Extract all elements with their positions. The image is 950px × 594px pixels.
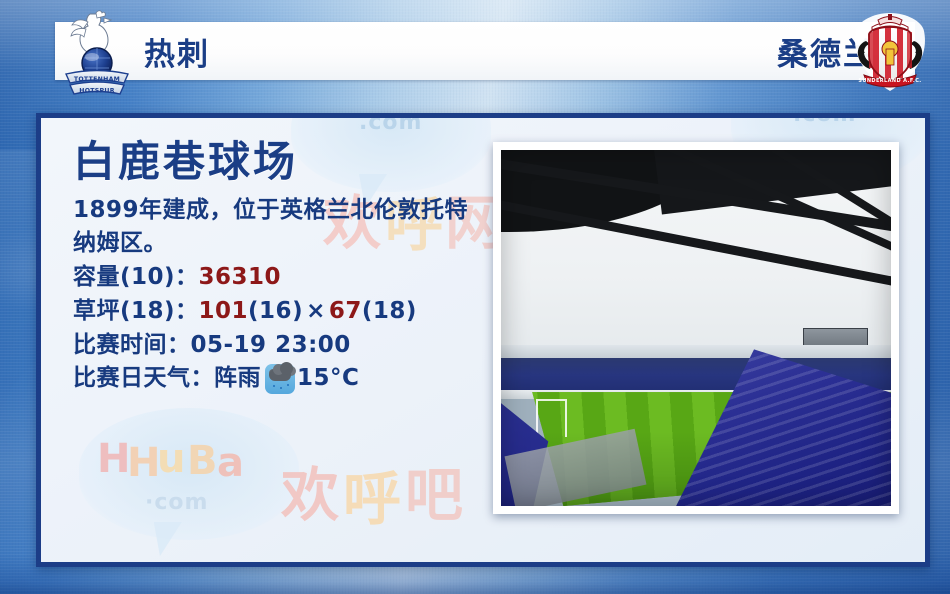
watermark-dotcom-top: .com bbox=[359, 113, 422, 135]
watermark-latin-4: B bbox=[187, 438, 219, 484]
kickoff-label: 比赛时间： bbox=[73, 329, 191, 363]
match-info-graphic: TOTTENHAM HOTSPUR 热刺 桑德兰 bbox=[0, 0, 950, 594]
sunderland-afc-crest-icon: SUNDERLAND A.F.C. bbox=[848, 11, 932, 95]
watermark-latin-3: u bbox=[157, 436, 186, 482]
watermark-latin-domain: ·com bbox=[145, 490, 208, 515]
watermark-latin: H bbox=[97, 436, 131, 482]
home-team: 热刺 bbox=[60, 22, 210, 80]
stadium-info-panel: .com 欢 呼 网 H H u B a ·com 欢 呼 吧 .com 白鹿巷… bbox=[36, 113, 930, 567]
pitch-row: 草坪(18)：101(16)×67(18) bbox=[73, 295, 493, 329]
capacity-value: 36310 bbox=[199, 261, 282, 295]
kickoff-row: 比赛时间：05-19 23:00 bbox=[73, 329, 493, 363]
white-hart-lane-stadium-photo bbox=[501, 150, 891, 506]
rain-cloud-icon bbox=[265, 364, 295, 394]
pitch-width-value: 67 bbox=[329, 295, 362, 329]
svg-text:SUNDERLAND A.F.C.: SUNDERLAND A.F.C. bbox=[858, 78, 921, 84]
watermark-brand-bottom-3: 吧 bbox=[405, 448, 466, 532]
capacity-label: 容量(10)： bbox=[73, 261, 199, 295]
stadium-photo-frame bbox=[493, 142, 899, 514]
match-header: TOTTENHAM HOTSPUR 热刺 桑德兰 bbox=[0, 0, 950, 104]
watermark-latin-5: a bbox=[217, 440, 245, 486]
watermark-dotcom-right: .com bbox=[793, 113, 856, 127]
weather-label: 比赛日天气： bbox=[73, 362, 214, 396]
stadium-description: 1899年建成，位于英格兰北伦敦托特纳姆区。 bbox=[73, 194, 485, 259]
pitch-label: 草坪(18)： bbox=[73, 295, 199, 329]
home-team-name: 热刺 bbox=[144, 29, 210, 74]
stadium-title: 白鹿巷球场 bbox=[73, 140, 493, 184]
pitch-length-unit: (16) bbox=[248, 295, 303, 329]
weather-value: 阵雨 bbox=[214, 362, 261, 396]
pitch-times-symbol: × bbox=[306, 295, 326, 329]
kickoff-value: 05-19 23:00 bbox=[191, 329, 351, 363]
watermark-brand-bottom-2: 呼 bbox=[343, 452, 404, 536]
pitch-width-unit: (18) bbox=[362, 295, 417, 329]
temperature-value: 15°C bbox=[297, 362, 359, 396]
svg-text:HOTSPUR: HOTSPUR bbox=[79, 88, 115, 95]
watermark-brand-bottom: 欢 bbox=[281, 448, 342, 532]
capacity-row: 容量(10)：36310 bbox=[73, 261, 493, 295]
stadium-info-text: 白鹿巷球场 1899年建成，位于英格兰北伦敦托特纳姆区。 容量(10)：3631… bbox=[73, 140, 493, 396]
watermark-bubble-left bbox=[79, 408, 299, 540]
photo-vignette bbox=[501, 150, 891, 506]
watermark-latin-2: H bbox=[127, 440, 161, 486]
weather-row: 比赛日天气：阵雨 15°C bbox=[73, 362, 493, 396]
pitch-length-value: 101 bbox=[199, 295, 249, 329]
